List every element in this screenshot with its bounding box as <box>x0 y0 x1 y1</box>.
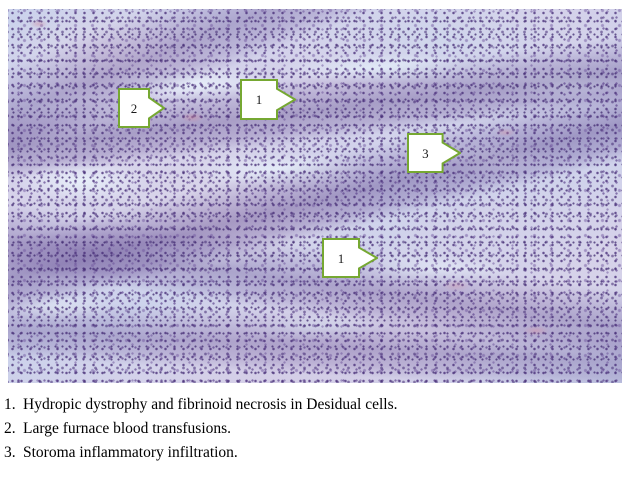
arrow-callout-1-1: 1 <box>240 79 296 120</box>
caption-block: 1. Hydropic dystrophy and fibrinoid necr… <box>4 393 624 465</box>
caption-line-number: 3. <box>4 441 23 465</box>
arrow-callout-label: 1 <box>240 79 278 120</box>
vignette-layer <box>8 9 622 383</box>
caption-line-text: Large furnace blood transfusions. <box>23 417 231 441</box>
caption-line-text: Storoma inflammatory infiltration. <box>23 441 238 465</box>
arrow-callout-3-2: 3 <box>407 133 461 173</box>
caption-line-number: 2. <box>4 417 23 441</box>
arrow-callout-label: 1 <box>322 238 360 278</box>
arrow-callout-label: 2 <box>118 88 150 128</box>
histology-micrograph: 2131 <box>8 9 622 383</box>
caption-line: 1. Hydropic dystrophy and fibrinoid necr… <box>4 393 624 417</box>
caption-line: 3. Storoma inflammatory infiltration. <box>4 441 624 465</box>
arrow-callout-2-0: 2 <box>118 88 165 128</box>
caption-line: 2. Large furnace blood transfusions. <box>4 417 624 441</box>
arrow-callout-label: 3 <box>407 133 444 173</box>
caption-line-number: 1. <box>4 393 23 417</box>
arrow-callout-1-3: 1 <box>322 238 378 278</box>
figure-page: 2131 1. Hydropic dystrophy and fibrinoid… <box>0 0 633 478</box>
caption-line-text: Hydropic dystrophy and fibrinoid necrosi… <box>23 393 398 417</box>
